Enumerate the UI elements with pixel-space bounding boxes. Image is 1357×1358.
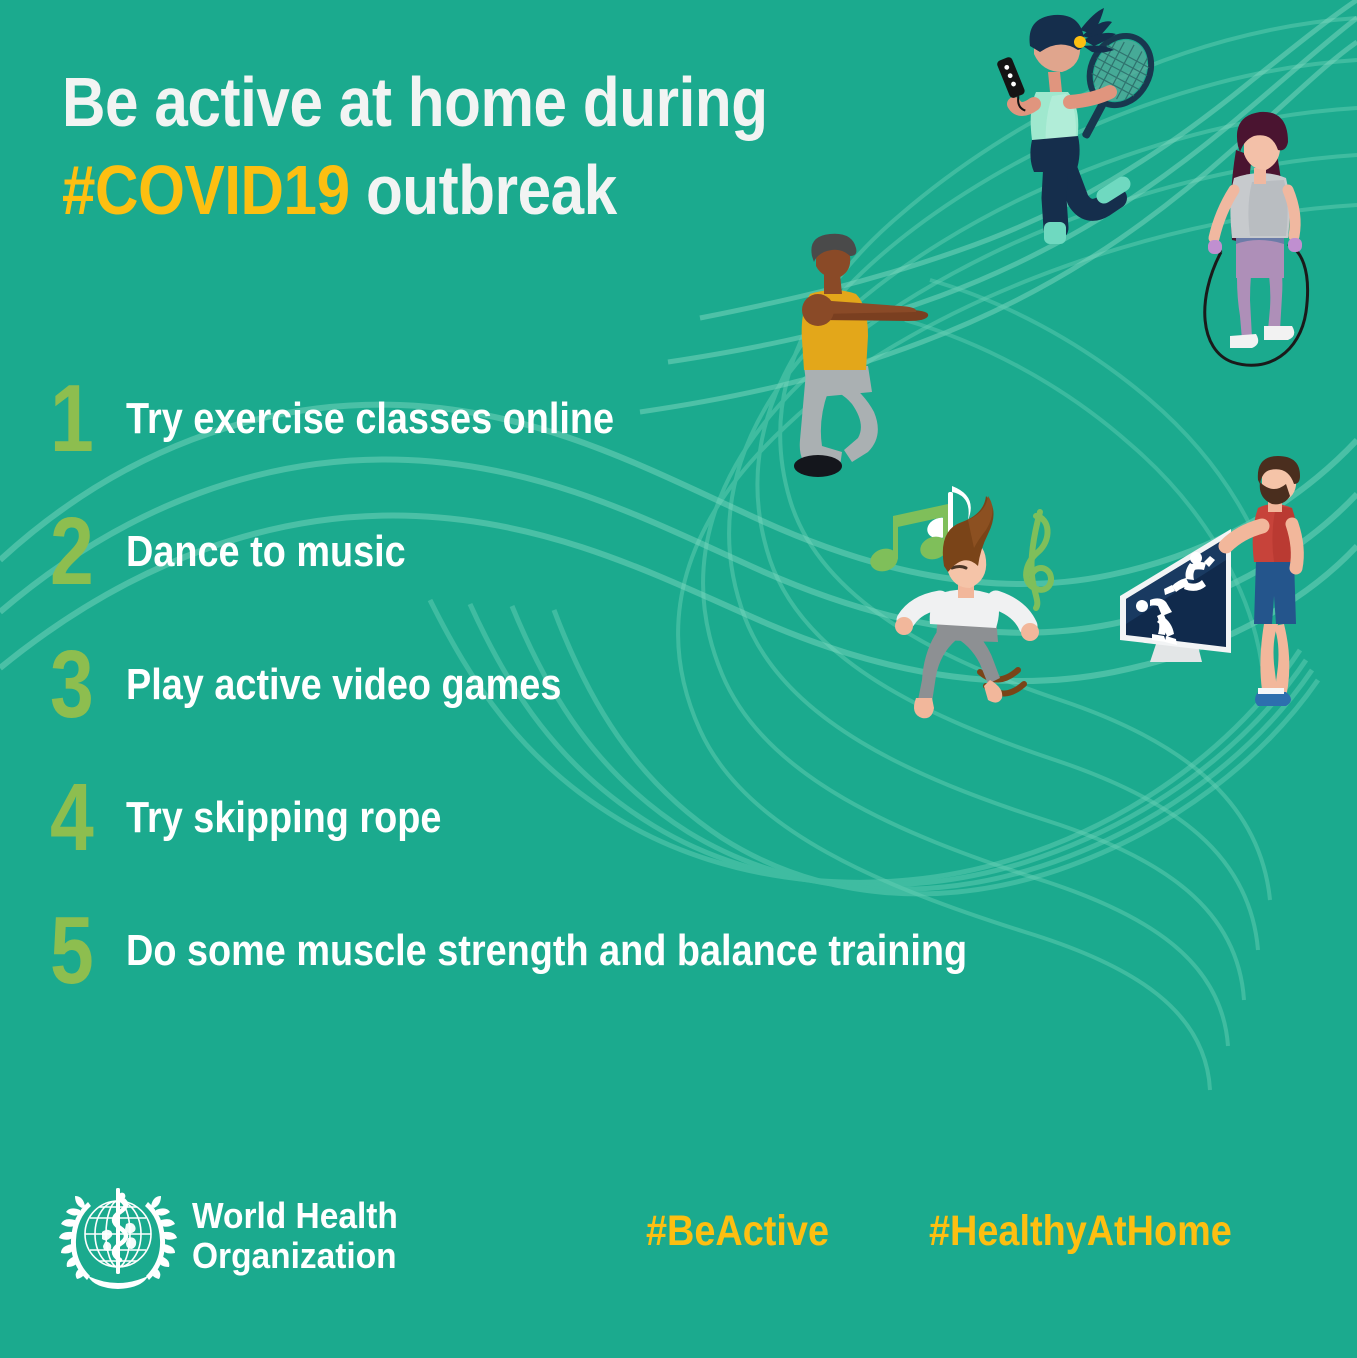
tip-number: 3 [50, 637, 109, 733]
list-item: 3 Play active video games [50, 618, 1170, 751]
hashtag-healthyathome: #HealthyAtHome [929, 1210, 1232, 1253]
list-item: 2 Dance to music [50, 485, 1170, 618]
list-item: 5 Do some muscle strength and balance tr… [50, 884, 1170, 1017]
footer: World Health Organization #BeActive #Hea… [0, 1158, 1357, 1358]
tip-label: Do some muscle strength and balance trai… [126, 929, 967, 973]
skipping-rope-woman [1205, 112, 1308, 365]
tip-number: 1 [50, 371, 109, 467]
hashtag-group: #BeActive #HealthyAtHome [646, 1210, 1273, 1253]
poster-canvas: Be active at home during #COVID19 outbre… [0, 0, 1357, 1358]
hashtag-beactive: #BeActive [646, 1210, 829, 1253]
tips-list: 1 Try exercise classes online 2 Dance to… [50, 352, 1170, 1017]
headline-outbreak: outbreak [350, 151, 617, 229]
tip-number: 5 [50, 903, 109, 999]
list-item: 1 Try exercise classes online [50, 352, 1170, 485]
headline-line-1: Be active at home during [62, 58, 836, 146]
list-item: 4 Try skipping rope [50, 751, 1170, 884]
pictogram-situp [1164, 552, 1215, 595]
tennis-player-woman [996, 8, 1163, 244]
who-logo: World Health Organization [58, 1176, 413, 1296]
tip-label: Dance to music [126, 530, 406, 574]
tv-exercise-man [1226, 456, 1300, 706]
who-line-1: World Health [192, 1196, 398, 1236]
tip-number: 2 [50, 504, 109, 600]
covid-hashtag: #COVID19 [62, 151, 350, 229]
tip-label: Play active video games [126, 663, 561, 707]
headline-line-2: #COVID19 outbreak [62, 146, 836, 234]
tip-number: 4 [50, 770, 109, 866]
tip-label: Try skipping rope [126, 796, 441, 840]
who-line-2: Organization [192, 1236, 398, 1276]
tip-label: Try exercise classes online [126, 397, 614, 441]
who-wordmark: World Health Organization [192, 1196, 398, 1277]
page-title: Be active at home during #COVID19 outbre… [62, 58, 836, 234]
who-emblem-icon [58, 1176, 178, 1296]
